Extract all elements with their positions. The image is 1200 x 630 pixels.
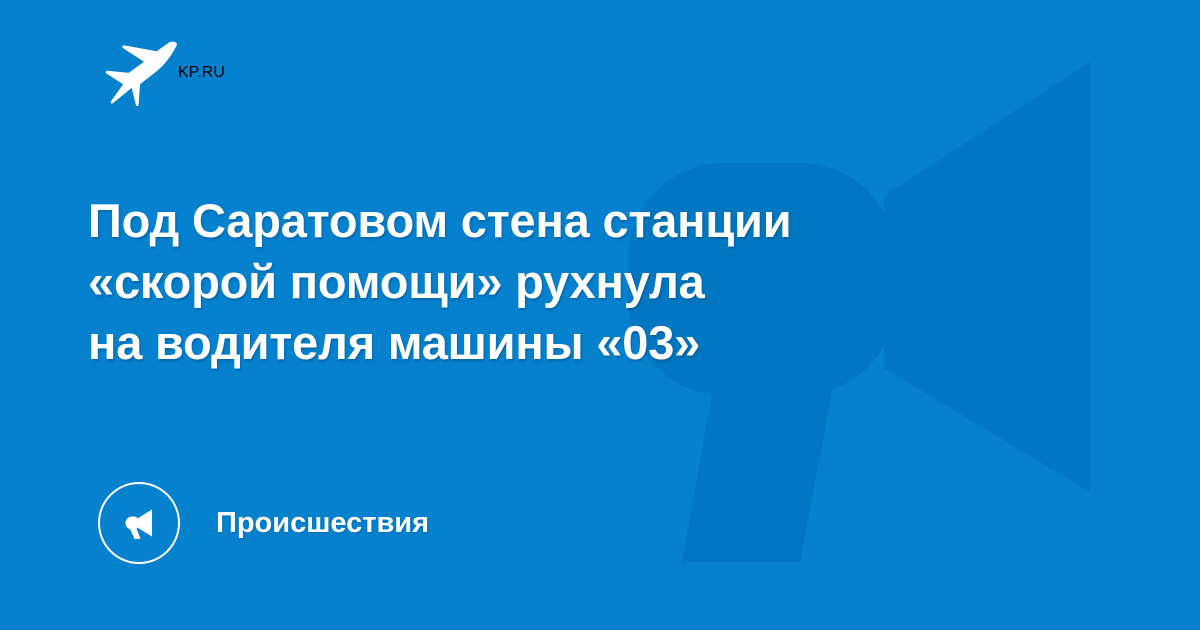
category-tag[interactable]: Происшествия: [98, 482, 429, 564]
brand-logo[interactable]: KP.RU: [104, 38, 225, 108]
headline-line-1: Под Саратовом стена станции: [88, 190, 988, 251]
headline-line-3: на водителя машины «03»: [88, 312, 988, 373]
social-share-card: KP.RU Под Саратовом стена станции «скоро…: [0, 0, 1200, 630]
megaphone-icon: [116, 500, 162, 546]
category-label: Происшествия: [216, 509, 429, 538]
brand-name: KP.RU: [178, 64, 225, 82]
swallow-bird-icon: [104, 39, 178, 107]
category-icon-badge: [98, 482, 180, 564]
page-title: Под Саратовом стена станции «скорой помо…: [88, 190, 988, 373]
headline-line-2: «скорой помощи» рухнула: [88, 251, 988, 312]
